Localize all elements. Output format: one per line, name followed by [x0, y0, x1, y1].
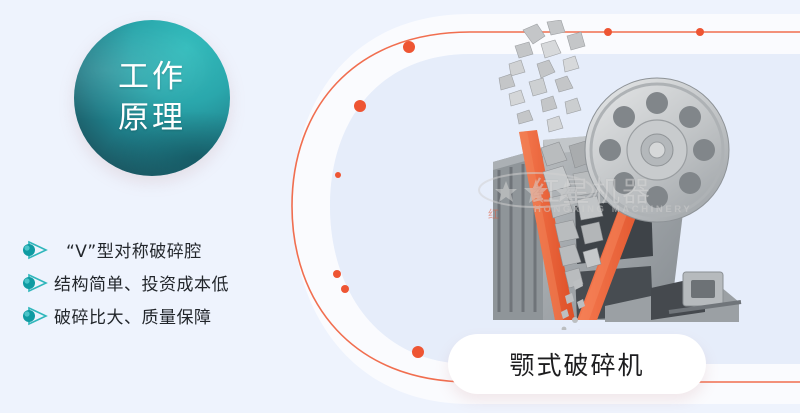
list-item: 破碎比大、质量保障: [20, 299, 290, 332]
list-item-label: 破碎比大、质量保障: [54, 303, 212, 328]
badge-line-1: 工作: [118, 57, 186, 98]
list-item-label: “V”型对称破碎腔: [54, 237, 202, 262]
curve-dot: [412, 346, 424, 358]
sphere-arrow-bullet-icon: [20, 272, 50, 294]
list-item: 结构简单、投资成本低: [20, 266, 290, 299]
curve-dot: [354, 100, 366, 112]
feature-list: “V”型对称破碎腔 结构简单、投资成本低 破碎比大、质量保障: [20, 233, 290, 332]
badge-line-2: 原理: [118, 98, 186, 139]
curve-dot: [341, 285, 349, 293]
product-name-label: 颚式破碎机: [509, 346, 644, 382]
list-item-label: 结构简单、投资成本低: [54, 270, 229, 295]
work-principle-badge: 工作 原理: [74, 20, 230, 176]
flywheel: [585, 78, 729, 222]
badge-text: 工作 原理: [74, 20, 230, 176]
product-name-card: 颚式破碎机: [448, 334, 706, 394]
jaw-crusher-illustration: [455, 20, 755, 330]
sphere-arrow-bullet-icon: [20, 239, 50, 261]
curve-dot: [333, 270, 341, 278]
list-item: “V”型对称破碎腔: [20, 233, 290, 266]
sphere-arrow-bullet-icon: [20, 305, 50, 327]
curve-dot: [403, 41, 415, 53]
curve-dot: [335, 172, 341, 178]
infographic-canvas: 工作 原理 “V”型对称破碎腔 结构简单: [0, 0, 800, 413]
falling-rocks-top: [499, 20, 585, 132]
